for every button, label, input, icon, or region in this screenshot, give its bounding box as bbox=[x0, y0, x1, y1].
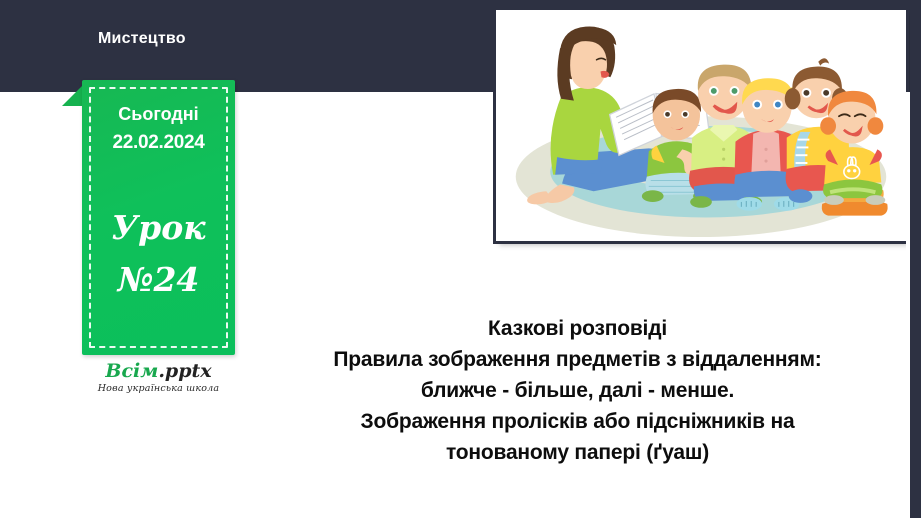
lesson-date-card: Сьогодні 22.02.2024 Урок №24 bbox=[82, 80, 235, 355]
logo-brand-extension: .pptx bbox=[158, 360, 211, 382]
lesson-topic-title: Казкові розповіді Правила зображення пре… bbox=[250, 313, 905, 468]
title-line: ближче - більше, далі - менше. bbox=[250, 375, 905, 406]
lesson-date: 22.02.2024 bbox=[82, 132, 235, 154]
logo-brand-name: Всім bbox=[105, 360, 158, 382]
illustration-frame bbox=[496, 10, 906, 241]
logo-wordmark: Всім.pptx bbox=[82, 360, 235, 382]
title-line: Правила зображення предметів з віддаленн… bbox=[250, 344, 905, 375]
title-line: Зображення пролісків або підсніжників на bbox=[250, 406, 905, 437]
title-line: тонованому папері (ґуаш) bbox=[250, 437, 905, 468]
title-line: Казкові розповіді bbox=[250, 313, 905, 344]
slide-canvas: Мистецтво Сьогодні 22.02.2024 Урок №24 В… bbox=[0, 0, 921, 518]
right-edge-accent-strip bbox=[910, 0, 921, 518]
teacher-reading-to-children-icon bbox=[499, 13, 903, 238]
lesson-word-label: Урок bbox=[82, 208, 235, 247]
page-title: Мистецтво bbox=[98, 30, 186, 48]
today-label: Сьогодні bbox=[82, 104, 235, 125]
lesson-number: №24 bbox=[82, 260, 235, 299]
logo-tagline: Нова українська школа bbox=[82, 383, 235, 394]
brand-logo: Всім.pptx Нова українська школа bbox=[82, 360, 235, 394]
